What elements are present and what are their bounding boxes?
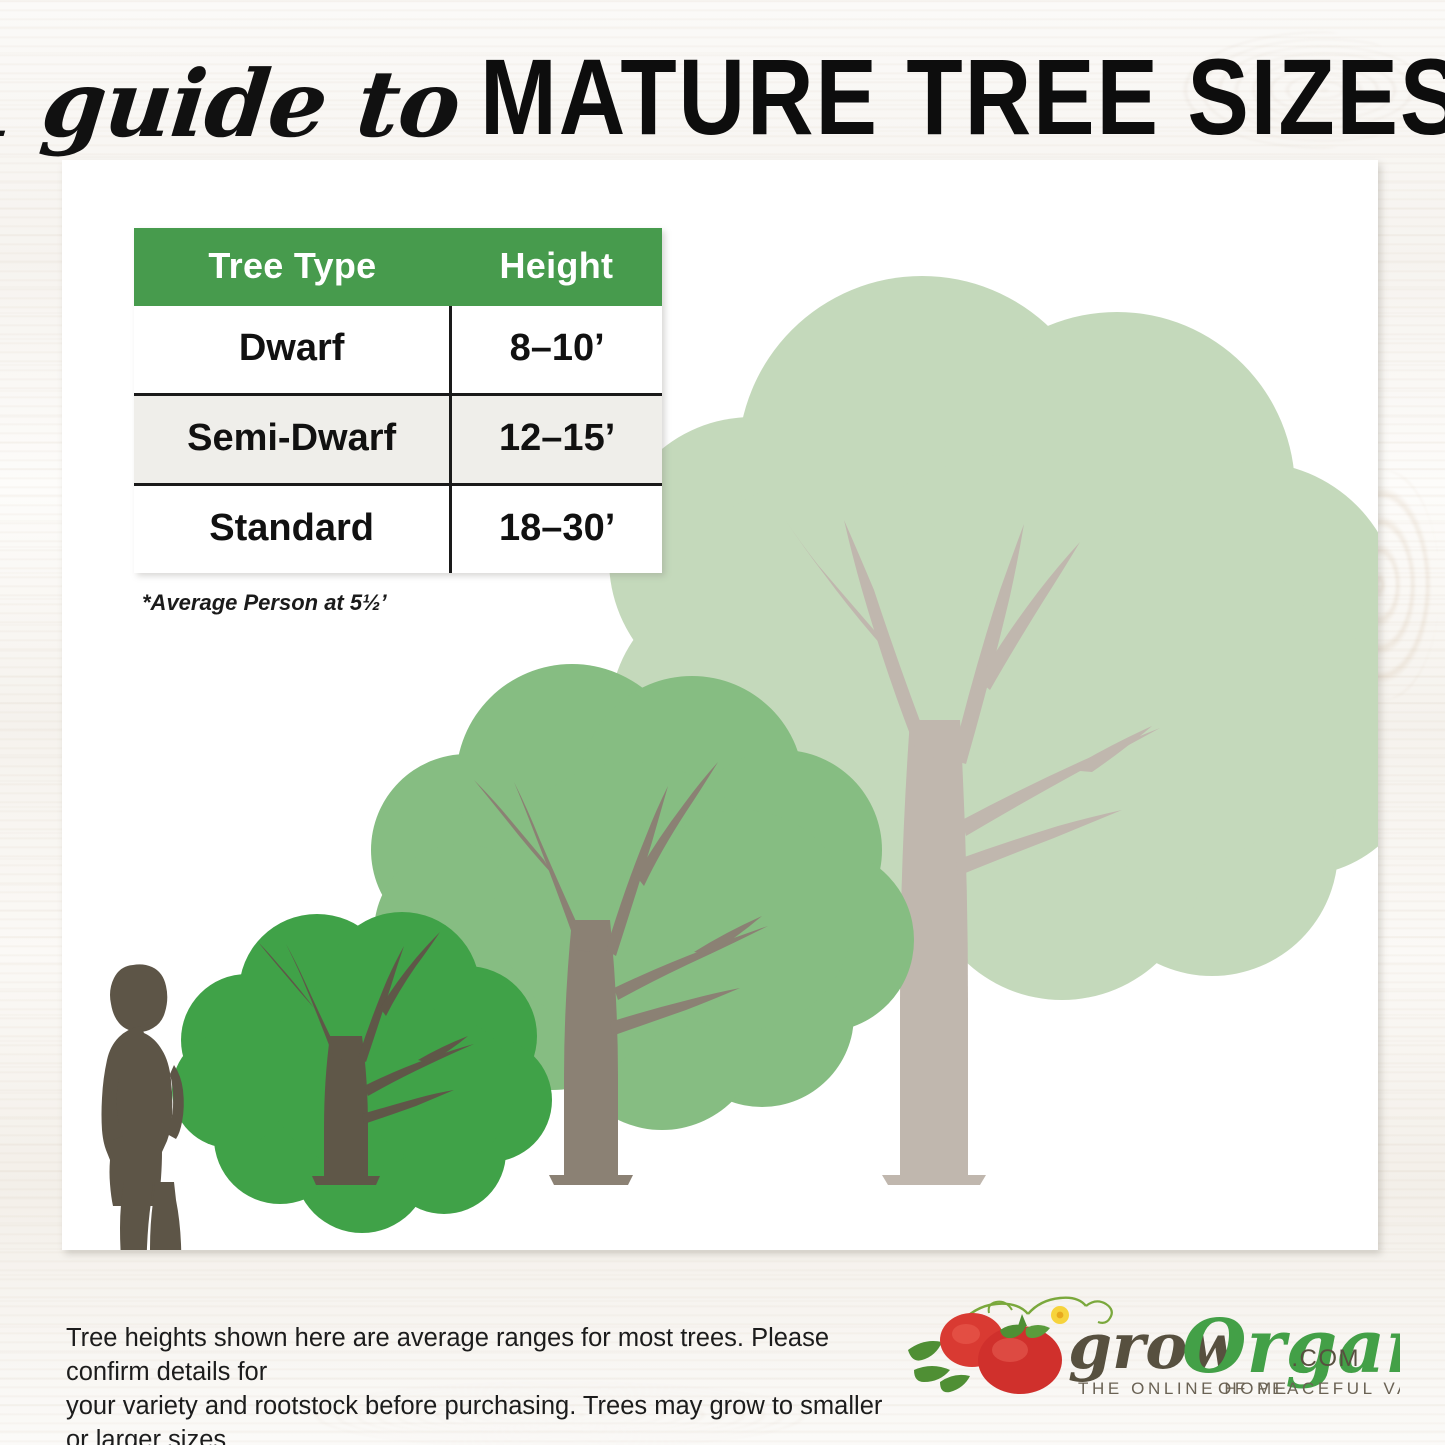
table-footnote: *Average Person at 5½’ xyxy=(142,590,387,616)
cell-tree-type-standard: Standard xyxy=(134,485,451,574)
page-title-script: A guide to xyxy=(0,58,464,150)
cell-height-dwarf: 8–10’ xyxy=(451,306,662,395)
page-title: A guide to MATURE TREE SIZES xyxy=(0,56,1445,164)
page-title-caps: MATURE TREE SIZES xyxy=(480,44,1445,152)
disclaimer-text: Tree heights shown here are average rang… xyxy=(66,1322,886,1445)
grow-organic-logo[interactable]: grow Organic .COM THE ONLINE HOME OF PEA… xyxy=(900,1290,1400,1410)
infographic-card: Tree Type Height Dwarf 8–10’ Semi-Dwarf … xyxy=(62,160,1378,1250)
disclaimer-line-2: your variety and rootstock before purcha… xyxy=(66,1390,886,1445)
table-body: Dwarf 8–10’ Semi-Dwarf 12–15’ Standard 1… xyxy=(134,306,662,573)
cell-height-standard: 18–30’ xyxy=(451,485,662,574)
cell-height-semi-dwarf: 12–15’ xyxy=(451,395,662,485)
cell-tree-type-semi-dwarf: Semi-Dwarf xyxy=(134,395,451,485)
column-header-tree-type: Tree Type xyxy=(134,228,451,306)
disclaimer-line-1: Tree heights shown here are average rang… xyxy=(66,1322,886,1390)
table-row: Semi-Dwarf 12–15’ xyxy=(134,395,662,485)
column-header-height: Height xyxy=(451,228,662,306)
cell-tree-type-dwarf: Dwarf xyxy=(134,306,451,395)
logo-tagline-right: OF PEACEFUL VALLEY xyxy=(1218,1379,1400,1398)
logo-com-text: .COM xyxy=(1291,1345,1360,1372)
table-header-row: Tree Type Height xyxy=(134,228,662,306)
table-row: Standard 18–30’ xyxy=(134,485,662,574)
tree-size-table: Tree Type Height Dwarf 8–10’ Semi-Dwarf … xyxy=(134,228,662,573)
table-header: Tree Type Height xyxy=(134,228,662,306)
table-row: Dwarf 8–10’ xyxy=(134,306,662,395)
